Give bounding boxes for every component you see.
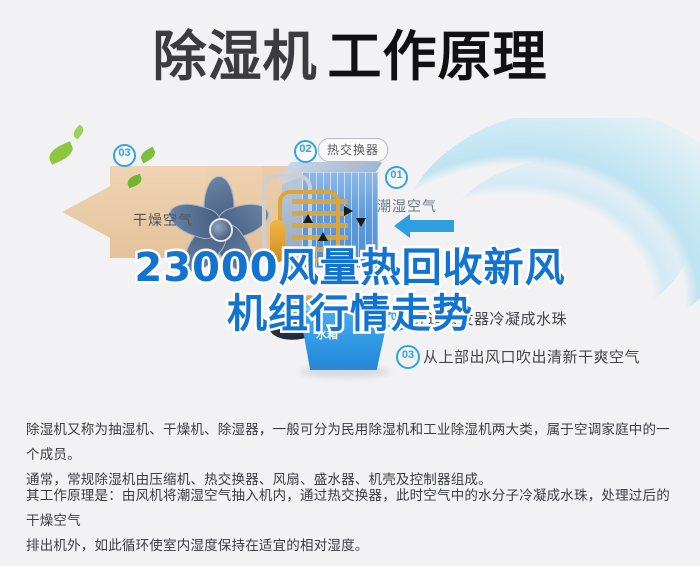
page-title-part-2: 工作原理 <box>328 30 548 84</box>
callout-bubble-heat-exchanger: 热交换器 <box>318 138 388 162</box>
dehumidifier-diagram: 水箱 03 干燥空气 02 热交换器 01 潮湿空气 02 经过蒸发器冷凝成水珠… <box>0 118 700 400</box>
compressor-icon <box>270 220 285 262</box>
callout-number-03: 03 <box>113 144 136 167</box>
callout-label-humid-air: 潮湿空气 <box>377 196 437 216</box>
step-text-02: 经过蒸发器冷凝成水珠 <box>412 308 567 329</box>
water-tank-shadow <box>300 366 390 378</box>
callout-number-02: 02 <box>294 140 317 163</box>
copper-pipe-icon <box>278 190 340 262</box>
description-paragraph-2-line-2: 排出机外，如此循环使室内湿度保持在适宜的相对湿度。 <box>26 534 678 559</box>
air-inlet-arrow-icon <box>410 220 454 232</box>
callout-number-01: 01 <box>385 166 408 189</box>
leaf-icon <box>71 124 85 139</box>
callout-label-dry-air: 干燥空气 <box>133 210 193 230</box>
step-number-03: 03 <box>396 345 420 369</box>
leaf-icon <box>46 141 75 165</box>
step-number-02: 02 <box>385 307 409 331</box>
flow-arrow-right-icon <box>344 206 353 216</box>
step-text-03: 从上部出风口吹出清新干爽空气 <box>423 346 640 367</box>
description-paragraph-1-line-1: 除湿机又称为抽湿机、干燥机、除湿器，一般可分为民用除湿机和工业除湿机两大类，属于… <box>26 418 678 468</box>
flow-arrow-up-icon <box>303 214 313 223</box>
leaf-icon <box>139 147 158 164</box>
fan-hub-icon <box>209 218 233 242</box>
water-tank-icon <box>295 308 390 370</box>
page-title: 除湿机 工作原理 <box>0 18 700 96</box>
description-paragraph-2-line-1: 其工作原理是：由风机将潮湿空气抽入机内，通过热交换器，此时空气中的水分子冷凝成水… <box>26 484 678 534</box>
page-root: 除湿机 工作原理 <box>0 0 700 566</box>
water-tank-label: 水箱 <box>316 326 338 342</box>
description-paragraph-2: 其工作原理是：由风机将潮湿空气抽入机内，通过热交换器，此时空气中的水分子冷凝成水… <box>26 484 678 559</box>
flow-arrow-up-icon <box>318 232 328 241</box>
page-title-part-1: 除湿机 <box>153 30 318 84</box>
flow-arrow-down-icon <box>356 218 366 227</box>
description-paragraph-1: 除湿机又称为抽湿机、干燥机、除湿器，一般可分为民用除湿机和工业除湿机两大类，属于… <box>26 418 678 493</box>
